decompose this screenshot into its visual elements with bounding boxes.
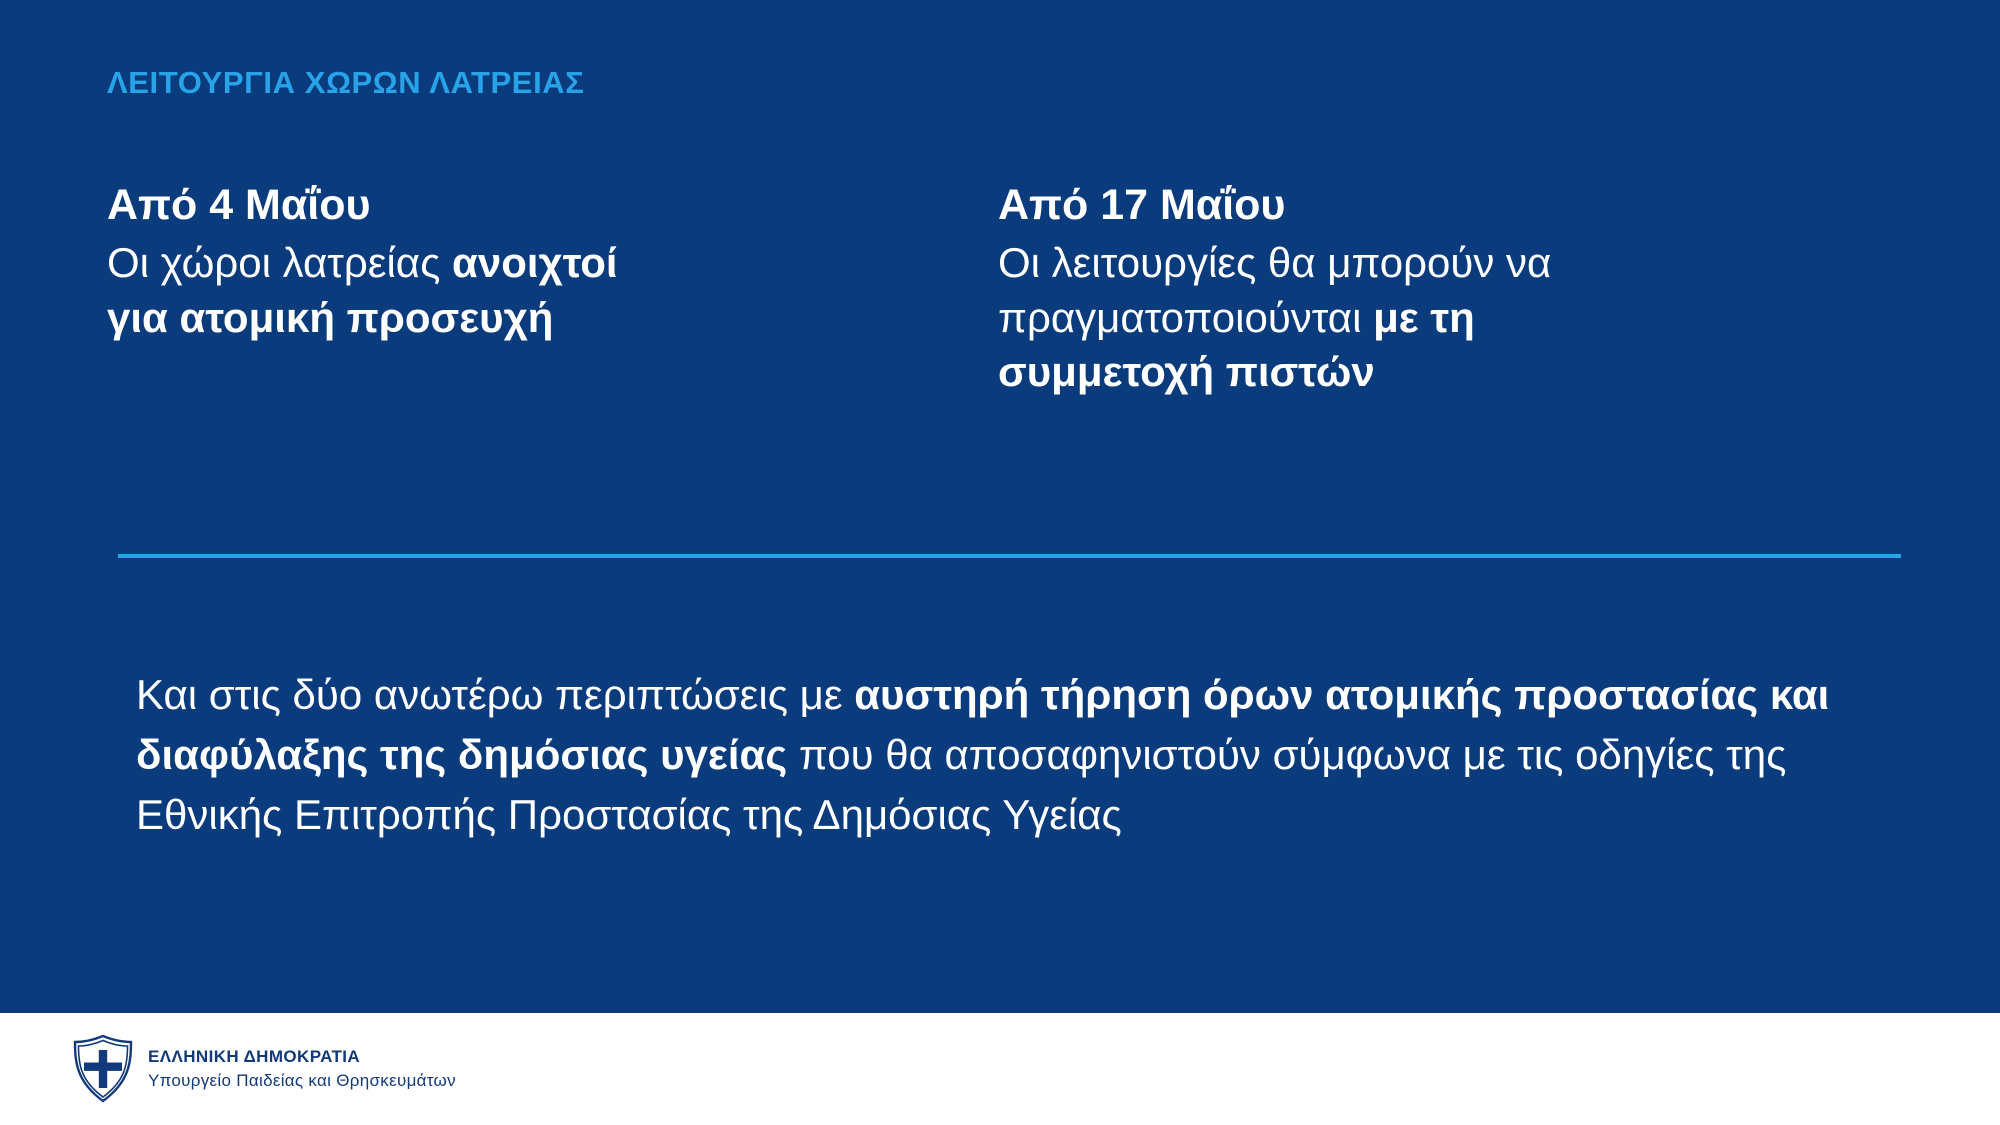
column-body-text: Οι χώροι λατρείας ανοιχτοίγια ατομική πρ… bbox=[107, 236, 912, 345]
column-body-text: Οι λειτουργίες θα μπορούν να πραγματοποι… bbox=[998, 236, 1803, 400]
column-heading-date: Από 17 Μαΐου bbox=[998, 178, 1803, 233]
section-divider-rule bbox=[118, 554, 1901, 558]
greek-coat-of-arms-icon bbox=[72, 1035, 134, 1103]
slide-title: ΛΕΙΤΟΥΡΓΙΑ ΧΩΡΩΝ ΛΑΤΡΕΙΑΣ bbox=[107, 65, 585, 101]
column-body-emphasis-b: συμμετοχή πιστών bbox=[998, 348, 1375, 395]
column-body-emphasis-b: για ατομική προσευχή bbox=[107, 294, 553, 341]
column-body-emphasis-a: ανοιχτοί bbox=[452, 239, 618, 286]
column-from-may-17: Από 17 Μαΐου Οι λειτουργίες θα μπορούν ν… bbox=[998, 178, 1853, 400]
footer-ministry-label: Υπουργείο Παιδείας και Θρησκευμάτων bbox=[148, 1070, 456, 1092]
column-body-emphasis-a: με τη bbox=[1373, 294, 1475, 341]
footer-text-block: ΕΛΛΗΝΙΚΗ ΔΗΜΟΚΡΑΤΙΑ Υπουργείο Παιδείας κ… bbox=[148, 1046, 456, 1091]
footnote-paragraph: Και στις δύο ανωτέρω περιπτώσεις με αυστ… bbox=[136, 665, 1886, 845]
slide-root: ΛΕΙΤΟΥΡΓΙΑ ΧΩΡΩΝ ΛΑΤΡΕΙΑΣ Από 4 Μαΐου Οι… bbox=[0, 0, 2000, 1125]
columns-container: Από 4 Μαΐου Οι χώροι λατρείας ανοιχτοίγι… bbox=[107, 178, 1897, 400]
footer-republic-label: ΕΛΛΗΝΙΚΗ ΔΗΜΟΚΡΑΤΙΑ bbox=[148, 1046, 456, 1067]
footnote-part-1: Και στις δύο ανωτέρω περιπτώσεις με bbox=[136, 671, 854, 718]
slide-footer: ΕΛΛΗΝΙΚΗ ΔΗΜΟΚΡΑΤΙΑ Υπουργείο Παιδείας κ… bbox=[0, 1013, 2000, 1125]
column-body-plain: Οι χώροι λατρείας bbox=[107, 239, 452, 286]
footer-branding: ΕΛΛΗΝΙΚΗ ΔΗΜΟΚΡΑΤΙΑ Υπουργείο Παιδείας κ… bbox=[72, 1035, 456, 1103]
column-from-may-4: Από 4 Μαΐου Οι χώροι λατρείας ανοιχτοίγι… bbox=[107, 178, 962, 400]
column-heading-date: Από 4 Μαΐου bbox=[107, 178, 912, 233]
